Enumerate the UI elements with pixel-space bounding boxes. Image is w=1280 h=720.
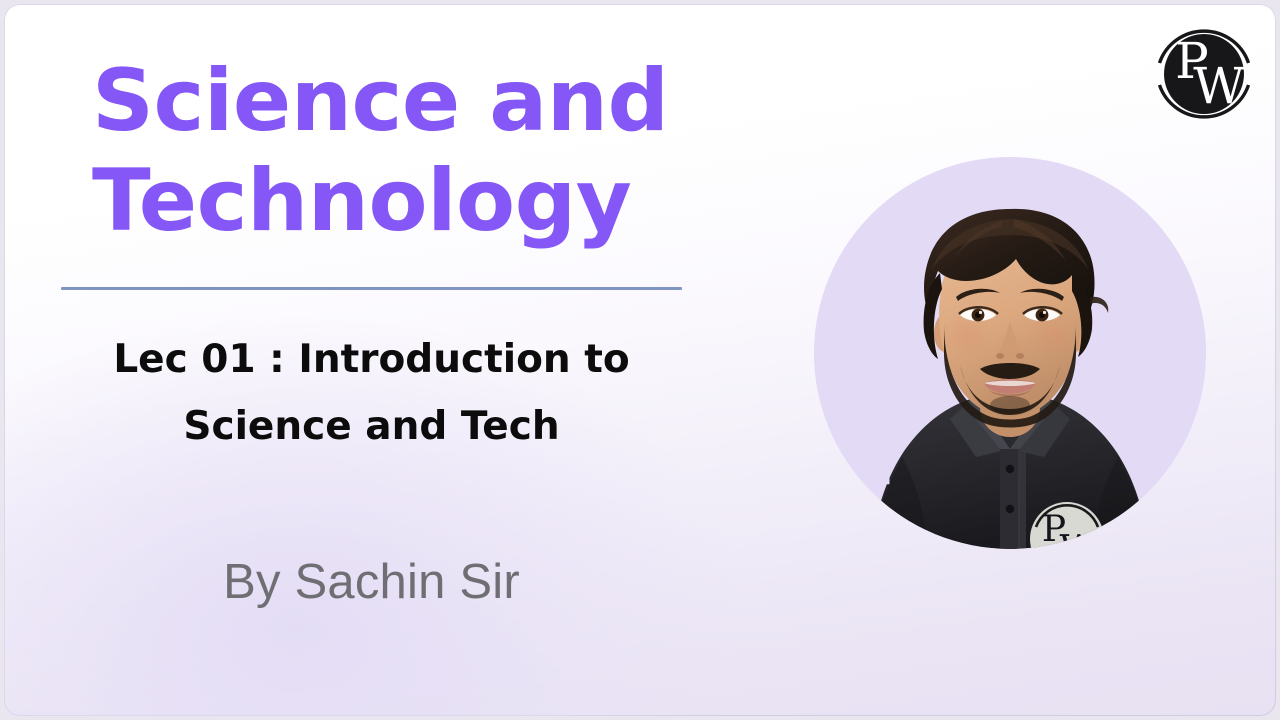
slide-frame: Science and Technology Lec 01 : Introduc…: [0, 0, 1280, 720]
title-text-column: Science and Technology Lec 01 : Introduc…: [4, 4, 744, 716]
portrait-disc: P W: [814, 157, 1206, 549]
instructor-portrait-block: P W: [790, 134, 1230, 578]
svg-text:W: W: [1059, 529, 1096, 549]
course-title: Science and Technology: [92, 52, 712, 252]
pw-logo-icon: P W: [1151, 21, 1257, 127]
lecture-title: Lec 01 : Introduction to Science and Tec…: [61, 326, 682, 460]
instructor-portrait-icon: P W: [814, 157, 1206, 549]
svg-text:W: W: [1193, 57, 1245, 115]
presenter-name: By Sachin Sir: [61, 556, 682, 610]
slide-card: Science and Technology Lec 01 : Introduc…: [4, 4, 1276, 716]
title-divider-rule: [61, 287, 682, 290]
